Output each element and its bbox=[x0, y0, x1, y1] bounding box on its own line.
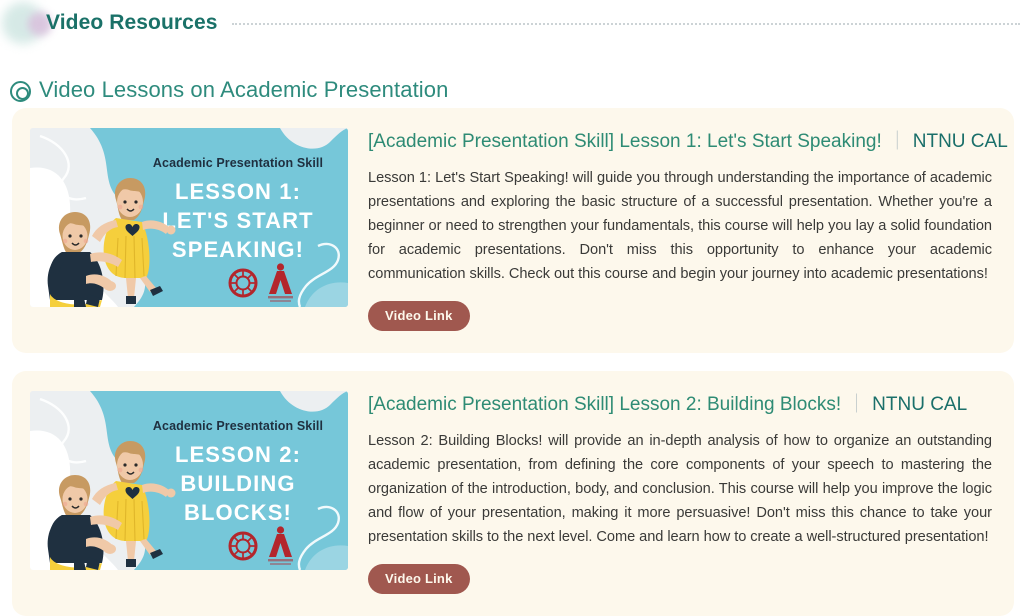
card-description: Lesson 1: Let's Start Speaking! will gui… bbox=[368, 166, 992, 286]
video-thumbnail[interactable]: Academic Presentation Skill LESSON 1: LE… bbox=[30, 128, 348, 307]
page-title: Video Resources bbox=[12, 11, 218, 35]
card-title[interactable]: [Academic Presentation Skill] Lesson 1: … bbox=[368, 130, 992, 155]
card-body: [Academic Presentation Skill] Lesson 2: … bbox=[368, 391, 992, 594]
card-title-text: [Academic Presentation Skill] Lesson 1: … bbox=[368, 131, 882, 152]
video-link-button[interactable]: Video Link bbox=[368, 564, 470, 594]
section-heading: Video Lessons on Academic Presentation bbox=[0, 46, 1024, 108]
thumbnail-illustration: Academic Presentation Skill LESSON 1: LE… bbox=[30, 128, 348, 307]
card-title-separator: ｜ bbox=[841, 394, 872, 415]
section-heading-label: Video Lessons on Academic Presentation bbox=[39, 77, 448, 103]
page-header: Video Resources bbox=[0, 0, 1024, 46]
thumbnail-headline-line-1: LESSON 2: bbox=[175, 442, 301, 467]
video-resource-card: Academic Presentation Skill LESSON 2: BU… bbox=[12, 371, 1014, 616]
card-title-text: [Academic Presentation Skill] Lesson 2: … bbox=[368, 394, 841, 415]
video-resource-card: Academic Presentation Skill LESSON 1: LE… bbox=[12, 108, 1014, 353]
card-title[interactable]: [Academic Presentation Skill] Lesson 2: … bbox=[368, 393, 992, 418]
thumbnail-eyebrow: Academic Presentation Skill bbox=[153, 419, 323, 433]
thumbnail-eyebrow: Academic Presentation Skill bbox=[153, 156, 323, 170]
video-link-button[interactable]: Video Link bbox=[368, 301, 470, 331]
card-description: Lesson 2: Building Blocks! will provide … bbox=[368, 429, 992, 549]
card-body: [Academic Presentation Skill] Lesson 1: … bbox=[368, 128, 992, 331]
thumbnail-illustration: Academic Presentation Skill LESSON 2: BU… bbox=[30, 391, 348, 570]
thumbnail-headline-line-2: BUILDING bbox=[180, 471, 295, 496]
video-thumbnail[interactable]: Academic Presentation Skill LESSON 2: BU… bbox=[30, 391, 348, 570]
thumbnail-headline-line-1: LESSON 1: bbox=[175, 179, 301, 204]
header-dashed-divider bbox=[232, 23, 1020, 25]
thumbnail-headline-line-3: SPEAKING! bbox=[172, 237, 304, 262]
card-title-brand: NTNU CAL bbox=[872, 394, 967, 415]
card-title-brand: NTNU CAL bbox=[913, 131, 1008, 152]
thumbnail-headline-line-3: BLOCKS! bbox=[184, 500, 292, 525]
target-bullseye-icon bbox=[10, 81, 31, 102]
card-title-separator: ｜ bbox=[882, 131, 913, 152]
thumbnail-headline-line-2: LET'S START bbox=[162, 208, 313, 233]
